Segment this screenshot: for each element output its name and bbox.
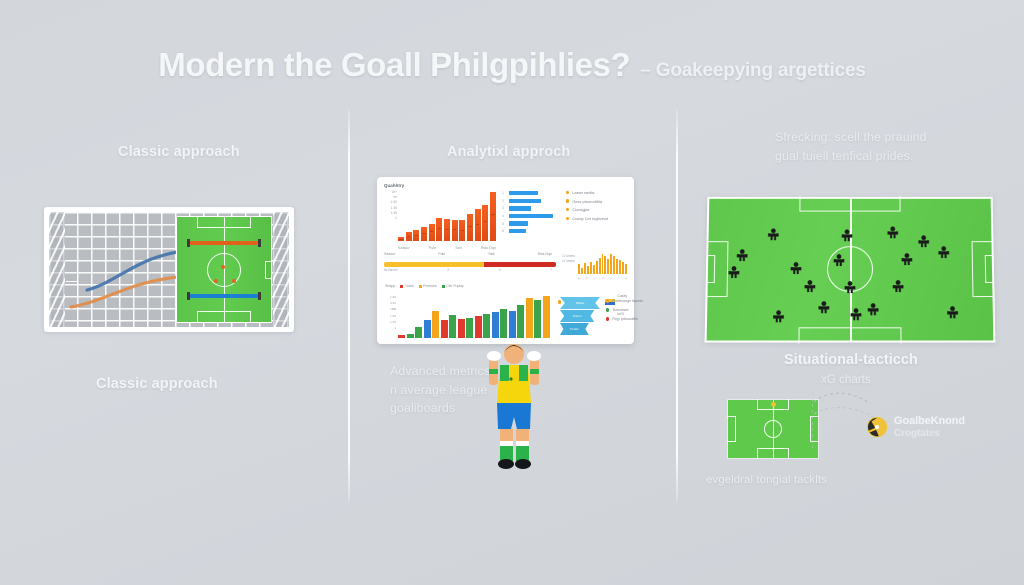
- legend-label: Laewr nedtis: [572, 190, 594, 195]
- orange-bar: [490, 192, 496, 241]
- yellow-bar: [596, 261, 598, 274]
- blue-bar: [509, 191, 538, 195]
- xtick: d: [602, 276, 604, 280]
- player-marker-icon: [842, 229, 853, 242]
- multi-bar: [526, 298, 533, 338]
- blue-bar-label: 4: [502, 214, 507, 218]
- mini-pitch-dot-1: [221, 265, 225, 269]
- multi-bar: [534, 300, 541, 338]
- goalkeeper-figure: [480, 341, 548, 471]
- chart-orange-bars-plot: [398, 190, 496, 241]
- multi-legend-item: Prestuee: [419, 284, 437, 288]
- player-marker-icon: [805, 280, 816, 293]
- keeper-badge: [509, 377, 512, 380]
- mini-pitch-box-bottom: [197, 311, 251, 323]
- mini-yellow-ytick-2: 11 smms: [562, 259, 575, 264]
- logo-mark-icon: [866, 416, 888, 438]
- chart-blue-horizontal-bars: 123456: [502, 183, 560, 249]
- yellow-bar: [619, 260, 621, 274]
- yellow-bar: [607, 259, 609, 274]
- blue-bar-row: 6: [502, 229, 560, 233]
- xtick: b: [586, 276, 588, 280]
- yellow-bar: [593, 265, 595, 274]
- dashboard-row-bottom: Shapp YoaotPrestueeCler Fuplay 1 90 4.42…: [384, 284, 627, 344]
- description-right-column: Sfrecking: scell the prauind gual tuiell…: [775, 128, 985, 165]
- funnel-key-label-top: Cueay: [617, 294, 627, 298]
- multi-bar: [483, 314, 490, 338]
- multi-legend-label: Cler Fuplay: [446, 284, 463, 288]
- ytick: 1: [384, 325, 396, 331]
- blue-bar-label: 2: [502, 199, 507, 203]
- legend-item: Ciorslgjax: [566, 207, 627, 212]
- chart-mini-yellow-bars: 12 smms 11 smms abcdefg: [562, 252, 627, 280]
- xtick: Setl: [455, 246, 461, 250]
- multi-bar: [500, 309, 507, 338]
- orange-bar: [459, 220, 465, 241]
- multi-chart-plot: [398, 294, 550, 338]
- page-title: Modern the Goall Philgpihlies? – Goakeep…: [0, 46, 1024, 84]
- timeline-label-1: Seasor: [384, 252, 395, 256]
- yellow-bar: [581, 268, 583, 274]
- description-line-1: Sfrecking: scell the prauind: [775, 128, 985, 147]
- mini-box-bottom: [757, 448, 789, 459]
- keeper-boot-left: [498, 459, 514, 469]
- trace-arc-1: [814, 393, 870, 404]
- blue-bar-label: 5: [502, 222, 507, 226]
- funnel-stage-label: Tmsbn: [570, 327, 579, 331]
- legend-item: Cueay Cet rogbvend: [566, 216, 627, 221]
- multi-bar: [432, 311, 439, 338]
- keeper-jersey-stripe-left: [500, 365, 509, 381]
- chart-timeline: Seasor Pule Setl Rws.Oqn tls ffunsm 2 0 …: [384, 252, 556, 280]
- column-divider-right: [676, 110, 678, 502]
- pitch-box-top: [799, 196, 900, 212]
- label-analytical-approach: Analytixl approch: [447, 144, 570, 160]
- page-title-main: Modern the Goall Philgpihlies?: [158, 46, 630, 84]
- funnel-stages: SftdanSnrtenTmsbn: [560, 297, 600, 336]
- dashboard-row-top: Quahhtry 15+ +m 1-00 1 45 1.05 1 SeasorP…: [384, 183, 627, 249]
- timeline-tick-2: [535, 250, 536, 259]
- funnel-stage-label: Snrten: [573, 314, 582, 318]
- goal-net-inner: [49, 212, 289, 327]
- mini-pitch-dot-2: [214, 279, 218, 283]
- blue-bar: [509, 214, 553, 218]
- blue-bar-row: 5: [502, 221, 560, 225]
- yellow-bar: [604, 256, 606, 274]
- orange-bar: [452, 220, 458, 241]
- multi-bar: [398, 335, 405, 338]
- orange-bar: [406, 232, 412, 241]
- multi-legend-dot-icon: [419, 285, 422, 288]
- legend-item: Gesv ptoorodiMa: [566, 199, 627, 204]
- timeline-sublabels: tls ffunsm 2 0 7: [384, 268, 556, 272]
- xtick: Pule: [429, 246, 436, 250]
- funnel-legend-item: Flonbuonge ttqsets: [606, 299, 643, 303]
- multi-bar: [509, 311, 516, 338]
- multi-bar: [466, 318, 473, 338]
- blue-bar-label: 3: [502, 206, 507, 210]
- orange-bar: [421, 227, 427, 241]
- dashboard-row-middle: Seasor Pule Setl Rws.Oqn tls ffunsm 2 0 …: [384, 252, 627, 280]
- xtick: e: [610, 276, 612, 280]
- multi-chart-header: Shapp YoaotPrestueeCler Fuplay: [384, 284, 552, 288]
- mini-center-circle: [764, 420, 782, 438]
- multi-bar: [475, 316, 482, 338]
- funnel-legend-item: Finjy prtsocoitits: [606, 317, 643, 321]
- blue-bar-label: 6: [502, 229, 507, 233]
- logo-wordmark: GoalbeKnond Crogtates: [894, 415, 965, 439]
- multi-bar: [492, 312, 499, 338]
- multi-legend-label: Prestuee: [423, 284, 437, 288]
- player-marker-icon: [773, 309, 784, 322]
- funnel-legend-label: Flonbuonge ttqsets: [612, 299, 643, 303]
- multi-bar: [458, 319, 465, 338]
- yellow-bar: [613, 256, 615, 274]
- multi-chart-yaxis: 1 90 4.42 1BB 1 50 1 40 1: [384, 294, 396, 338]
- timeline-label-4: Rws.Oqn: [538, 252, 552, 256]
- yellow-bar: [616, 259, 618, 274]
- player-marker-icon: [938, 246, 949, 259]
- label-situational-tactics: Situational-tacticch: [784, 352, 918, 368]
- player-marker-icon: [901, 253, 912, 266]
- funnel-panel: Zorn 1 0 f Fa 00ff Cueay toGf SftdanSnrt…: [558, 284, 627, 344]
- blue-bar-label: 1: [502, 191, 507, 195]
- logo-line-2: Crogtates: [894, 428, 965, 440]
- yellow-bar: [578, 264, 580, 274]
- timeline-sub-1: tls ffunsm: [384, 268, 398, 272]
- timeline-sub-2: 2: [447, 268, 449, 272]
- timeline-bar: [384, 262, 556, 267]
- orange-bars-xaxis: SeasorPuleSetlRws.Oqn: [398, 246, 496, 250]
- player-marker-icon: [844, 281, 855, 294]
- orange-bar: [467, 214, 473, 241]
- multi-bar: [441, 320, 448, 338]
- logo-line-1: GoalbeKnond: [894, 415, 965, 428]
- funnel-legend-item: Tsrectowd: [606, 308, 643, 312]
- ytick: 1: [384, 216, 397, 221]
- timeline-label-3: Setl: [488, 252, 494, 256]
- timeline-segment-red: [484, 262, 556, 267]
- orange-bar: [482, 205, 488, 241]
- blue-bar-row: 3: [502, 206, 560, 210]
- funnel-legend-dot-icon: [606, 317, 609, 320]
- funnel-legend-dot-icon: [606, 308, 609, 311]
- yellow-bar: [610, 254, 612, 274]
- mini-pitch-dot-3: [232, 279, 236, 283]
- keeper-glove-right-icon: [527, 351, 541, 361]
- yellow-bar: [625, 264, 627, 274]
- xtick: c: [594, 276, 595, 280]
- multi-bar: [543, 296, 550, 338]
- legend-dot-icon: [566, 208, 569, 211]
- xtick: f: [618, 276, 619, 280]
- yellow-bar: [587, 266, 589, 274]
- player-marker-icon: [867, 302, 878, 315]
- legend-dot-icon: [566, 191, 569, 194]
- timeline-sub-4: 7: [550, 268, 552, 272]
- player-marker-icon: [728, 265, 739, 278]
- multi-legend-label: Yoaot: [405, 284, 414, 288]
- brand-logo: GoalbeKnond Crogtates: [866, 415, 965, 439]
- orange-bar: [475, 209, 481, 241]
- mini-yellow-plot: [578, 253, 627, 274]
- trace-arc-2: [814, 408, 874, 418]
- blue-bar-row: 4: [502, 214, 560, 218]
- keeper-sock-band-right: [516, 441, 529, 446]
- player-marker-icon: [893, 280, 904, 293]
- page-title-subtitle: – Goakeepying argettices: [640, 60, 865, 82]
- orange-bar: [444, 219, 450, 241]
- timeline-sub-3: 0: [499, 268, 501, 272]
- legend-label: Cueay Cet rogbvend: [572, 216, 608, 221]
- timeline-tick-1: [484, 250, 485, 259]
- player-marker-icon: [768, 227, 779, 240]
- mini-pitch-event-dot: [771, 402, 776, 407]
- multi-bar: [517, 305, 524, 338]
- goal-net-diagram: [44, 207, 294, 332]
- funnel-legend: Flonbuonge ttqsetsTsrectowdFinjy prtsoco…: [606, 299, 643, 321]
- funnel-legend-dot-icon: [606, 299, 609, 302]
- blue-bar-row: 2: [502, 199, 560, 203]
- xtick: Seasor: [398, 246, 410, 250]
- description-line-2: gual tuiell tenfical prides.: [775, 147, 985, 166]
- funnel-stage: Snrten: [560, 310, 594, 322]
- keeper-shorts: [497, 403, 531, 429]
- multi-legend-item: Yoaot: [400, 284, 413, 288]
- legend-label: Gesv ptoorodiMa: [572, 199, 602, 204]
- logo-center-dot: [875, 425, 879, 429]
- player-marker-icon: [737, 248, 748, 261]
- player-marker-icon: [790, 261, 801, 274]
- blue-bar-row: 1: [502, 191, 560, 195]
- chart-orange-bars-yaxis: 15+ +m 1-00 1 45 1.05 1: [384, 190, 397, 242]
- funnel-stage: Sftdan: [560, 297, 600, 309]
- mini-box-left: [727, 416, 736, 442]
- player-marker-icon: [850, 308, 861, 321]
- poster-canvas: Modern the Goall Philgpihlies? – Goakeep…: [0, 0, 1024, 585]
- multi-bar: [424, 320, 431, 338]
- funnel-stage: Tmsbn: [560, 323, 589, 335]
- mini-pitch-overlay: [176, 216, 272, 323]
- mini-yellow-labels: 12 smms 11 smms: [562, 254, 575, 264]
- caption-bottom-right: evgeldral tongial tacklts: [706, 472, 906, 489]
- timeline-segment-yellow: [384, 262, 484, 267]
- player-marker-icon: [819, 301, 830, 314]
- player-marker-icon: [833, 254, 844, 267]
- funnel-legend-label: Finjy prtsocoitits: [612, 317, 638, 321]
- mini-pitch-line-orange: [189, 241, 259, 245]
- blue-bar: [509, 206, 531, 210]
- legend-label: Ciorslgjax: [572, 207, 589, 212]
- label-classic-approach-bottom: Classic approach: [96, 376, 218, 392]
- timeline-header: Seasor Pule Setl Rws.Oqn: [384, 252, 556, 256]
- legend-dot-icon: [566, 217, 569, 220]
- keeper-boot-right: [515, 459, 531, 469]
- tactical-pitch-full: [705, 197, 996, 343]
- orange-bar: [436, 218, 442, 241]
- blue-bar: [509, 199, 541, 203]
- keeper-cuff-right: [530, 369, 539, 374]
- keeper-glove-left-icon: [487, 351, 501, 361]
- xtick: a: [578, 276, 580, 280]
- multi-chart-title: Shapp: [385, 284, 395, 288]
- mini-pitch-goal-side: [265, 261, 272, 279]
- analytics-dashboard: Quahhtry 15+ +m 1-00 1 45 1.05 1 SeasorP…: [377, 177, 634, 344]
- orange-bar: [398, 237, 404, 241]
- pitch-goal-area-left: [706, 255, 716, 283]
- keeper-cuff-left: [489, 369, 498, 374]
- player-marker-icon: [887, 226, 898, 239]
- multi-bar: [449, 315, 456, 338]
- blue-bar: [509, 229, 526, 233]
- multi-legend-item: Cler Fuplay: [442, 284, 464, 288]
- keeper-sock-band-left: [500, 441, 513, 446]
- orange-bar: [429, 224, 435, 241]
- player-marker-icon: [918, 234, 929, 247]
- timeline-label-2: Pule: [438, 252, 445, 256]
- xtick: g: [625, 276, 627, 280]
- legend-top-right: Laewr nedtisGesv ptoorodiMaCiorslgjaxCue…: [566, 183, 627, 249]
- multi-legend-dot-icon: [442, 285, 445, 288]
- mini-yellow-xaxis: abcdefg: [578, 276, 627, 280]
- mini-pitch-line-blue: [189, 294, 259, 298]
- multi-bar: [407, 334, 414, 338]
- funnel-stage-label: Sftdan: [576, 301, 585, 305]
- mini-pitch-box-top: [197, 216, 251, 228]
- multi-legend-dot-icon: [400, 285, 403, 288]
- legend-dot-icon: [566, 199, 569, 202]
- pitch-box-bottom: [798, 327, 901, 343]
- yellow-bar: [602, 254, 604, 274]
- label-classic-approach-top: Classic approach: [118, 144, 240, 160]
- funnel-legend-label: Tsrectowd: [612, 308, 628, 312]
- tactical-pitch-mini: [727, 399, 819, 459]
- column-divider-left: [348, 110, 350, 502]
- chart-orange-bars: Quahhtry 15+ +m 1-00 1 45 1.05 1 SeasorP…: [384, 183, 496, 249]
- yellow-bar: [590, 262, 592, 274]
- keeper-head: [504, 344, 524, 364]
- orange-bar: [413, 230, 419, 241]
- multi-bar: [415, 327, 422, 338]
- chart-orange-bars-title: Quahhtry: [384, 183, 496, 188]
- chart-multi-series-bars: Shapp YoaotPrestueeCler Fuplay 1 90 4.42…: [384, 284, 552, 344]
- yellow-bar: [584, 263, 586, 274]
- keeper-jersey-stripe-right: [519, 365, 528, 381]
- yellow-bar: [599, 258, 601, 274]
- blue-bar: [509, 221, 528, 225]
- legend-item: Laewr nedtis: [566, 190, 627, 195]
- yellow-bar: [622, 262, 624, 274]
- player-marker-icon: [947, 305, 958, 318]
- label-xg-charts: xG charts: [821, 373, 871, 386]
- pitch-goal-area-right: [985, 255, 995, 283]
